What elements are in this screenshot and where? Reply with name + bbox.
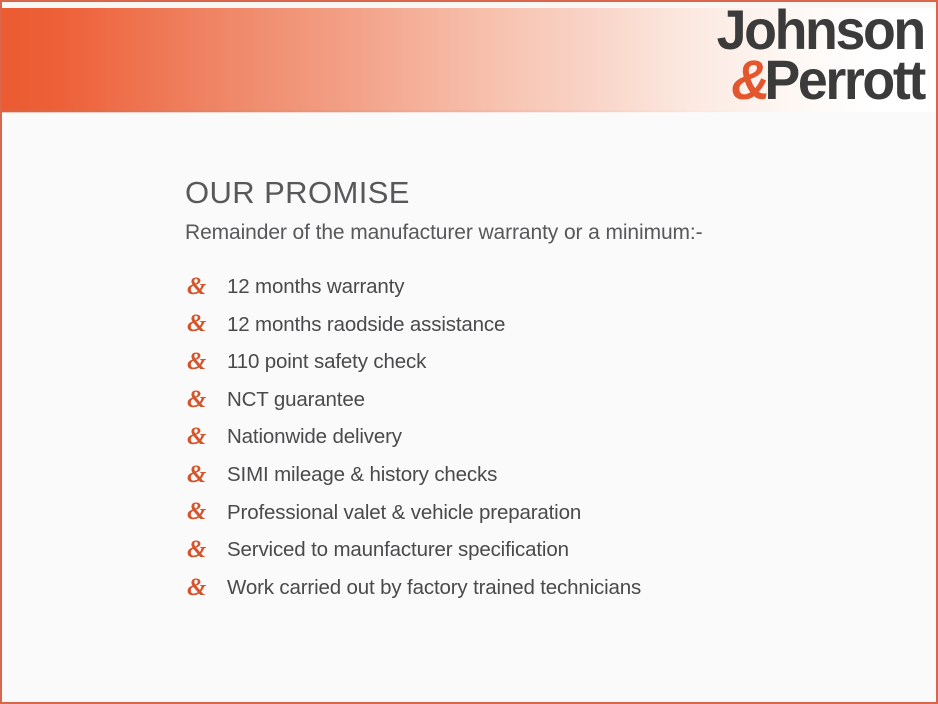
list-item: & NCT guarantee	[185, 381, 905, 419]
list-item-label: 12 months warranty	[227, 275, 404, 300]
list-item: & Nationwide delivery	[185, 419, 905, 457]
ampersand-bullet-icon: &	[185, 387, 227, 412]
content-area: OUR PROMISE Remainder of the manufacture…	[185, 174, 905, 607]
logo-line-johnson: Johnson	[717, 6, 924, 54]
ampersand-bullet-icon: &	[185, 274, 227, 299]
ampersand-bullet-icon: &	[185, 499, 227, 524]
johnson-perrott-logo: Johnson &Perrott	[708, 6, 924, 104]
list-item-label: 12 months raodside assistance	[227, 313, 505, 338]
ampersand-bullet-icon: &	[185, 349, 227, 374]
ampersand-bullet-icon: &	[185, 424, 227, 449]
logo-line-perrott: &Perrott	[717, 56, 924, 104]
list-item-label: NCT guarantee	[227, 388, 365, 413]
logo-word-perrott: Perrott	[765, 48, 924, 111]
list-item: & Work carried out by factory trained te…	[185, 569, 905, 607]
list-item: & SIMI mileage & history checks	[185, 456, 905, 494]
list-item-label: Serviced to maunfacturer specification	[227, 538, 569, 563]
list-item-label: SIMI mileage & history checks	[227, 463, 497, 488]
list-item: & 12 months warranty	[185, 268, 905, 306]
list-item: & 110 point safety check	[185, 344, 905, 382]
list-item-label: Work carried out by factory trained tech…	[227, 576, 641, 601]
page-title: OUR PROMISE	[185, 174, 905, 211]
logo-ampersand-icon: &	[731, 48, 766, 111]
list-item-label: Nationwide delivery	[227, 425, 402, 450]
ampersand-bullet-icon: &	[185, 575, 227, 600]
promise-list: & 12 months warranty & 12 months raodsid…	[185, 268, 905, 606]
ampersand-bullet-icon: &	[185, 462, 227, 487]
promise-slide: Johnson &Perrott OUR PROMISE Remainder o…	[0, 0, 938, 704]
list-item: & Serviced to maunfacturer specification	[185, 532, 905, 570]
ampersand-bullet-icon: &	[185, 311, 227, 336]
list-item-label: Professional valet & vehicle preparation	[227, 501, 581, 526]
list-item-label: 110 point safety check	[227, 350, 426, 375]
page-subtitle: Remainder of the manufacturer warranty o…	[185, 219, 905, 246]
ampersand-bullet-icon: &	[185, 537, 227, 562]
list-item: & Professional valet & vehicle preparati…	[185, 494, 905, 532]
list-item: & 12 months raodside assistance	[185, 306, 905, 344]
